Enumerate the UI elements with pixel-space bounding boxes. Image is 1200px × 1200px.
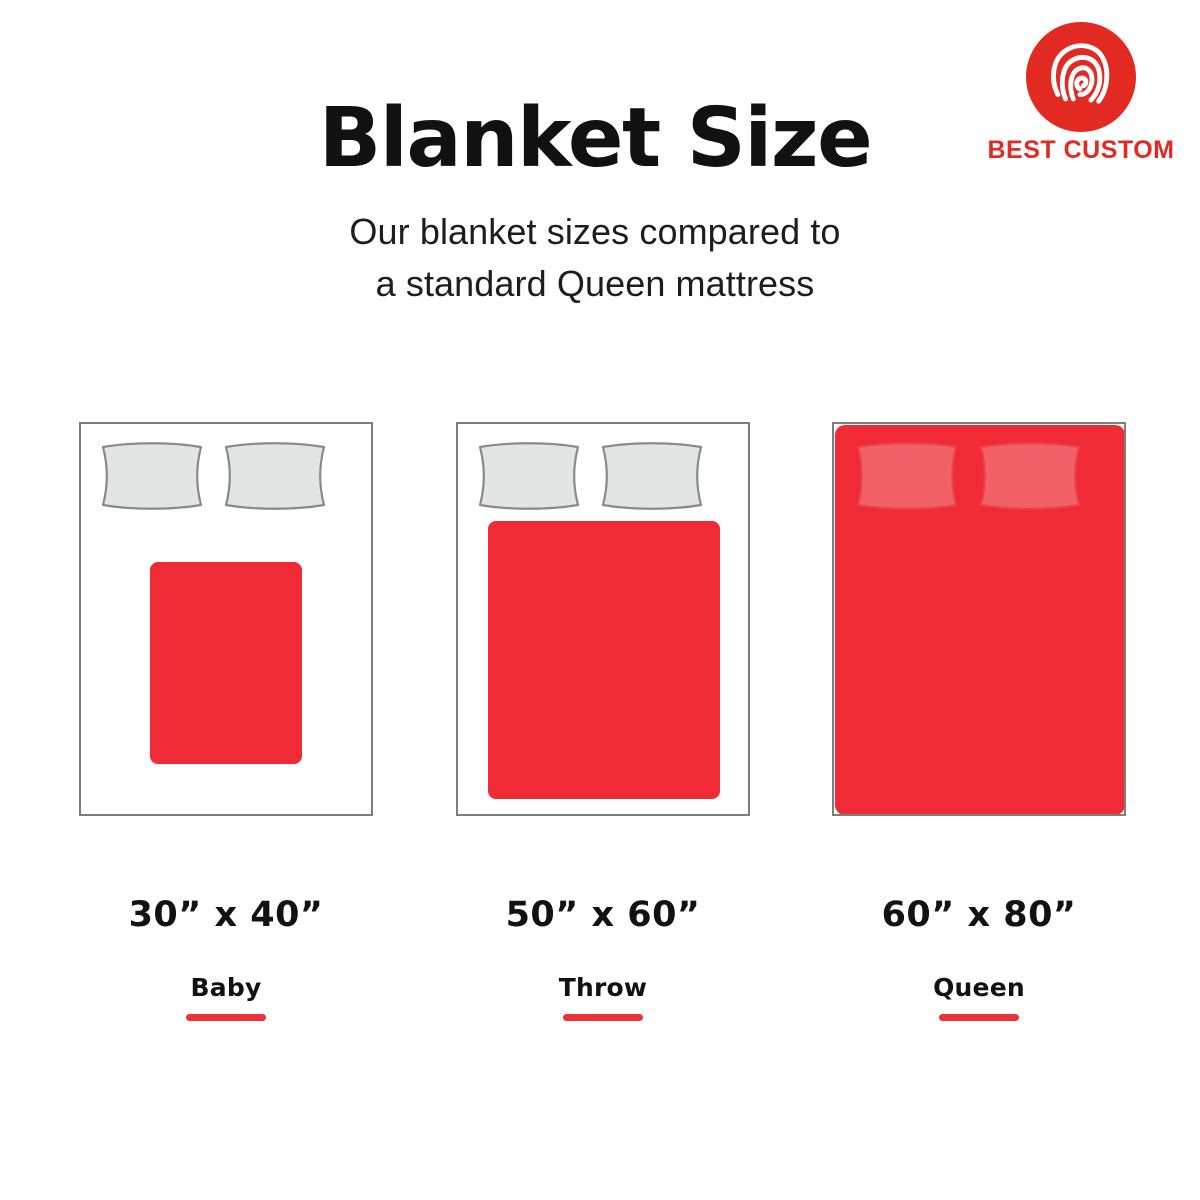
page-subtitle: Our blanket sizes compared to a standard… <box>215 206 975 310</box>
accent-underline <box>939 1014 1019 1021</box>
bed-comparison-diagrams <box>0 422 1200 822</box>
dimension-label: 50” x 60” <box>456 898 750 933</box>
page-header: Blanket Size Our blanket sizes compared … <box>0 96 1200 310</box>
caption-baby: 30” x 40” Baby <box>79 898 373 1021</box>
size-name-label: Baby <box>79 975 373 1000</box>
mattress-outline <box>79 422 373 816</box>
subtitle-line-2: a standard Queen mattress <box>215 258 975 310</box>
subtitle-line-1: Our blanket sizes compared to <box>215 206 975 258</box>
blanket-shape-queen <box>835 425 1125 815</box>
size-name-label: Throw <box>456 975 750 1000</box>
mattress-outline <box>456 422 750 816</box>
caption-throw: 50” x 60” Throw <box>456 898 750 1021</box>
pillow-icon <box>220 441 330 511</box>
blanket-shape-throw <box>488 521 720 799</box>
size-name-label: Queen <box>832 975 1126 1000</box>
pillow-icon <box>597 441 707 511</box>
accent-underline <box>186 1014 266 1021</box>
accent-underline <box>563 1014 643 1021</box>
pillow-icon <box>975 441 1085 511</box>
size-captions: 30” x 40” Baby 50” x 60” Throw 60” x 80”… <box>0 898 1200 1058</box>
bed-diagram-baby <box>79 422 373 816</box>
pillow-icon <box>97 441 207 511</box>
dimension-label: 30” x 40” <box>79 898 373 933</box>
pillow-icon <box>852 441 962 511</box>
caption-queen: 60” x 80” Queen <box>832 898 1126 1021</box>
blanket-shape-baby <box>150 562 302 764</box>
mattress-outline <box>832 422 1126 816</box>
bed-diagram-queen <box>832 422 1126 816</box>
dimension-label: 60” x 80” <box>832 898 1126 933</box>
pillow-icon <box>474 441 584 511</box>
page-title: Blanket Size <box>0 96 1190 182</box>
bed-diagram-throw <box>456 422 750 816</box>
